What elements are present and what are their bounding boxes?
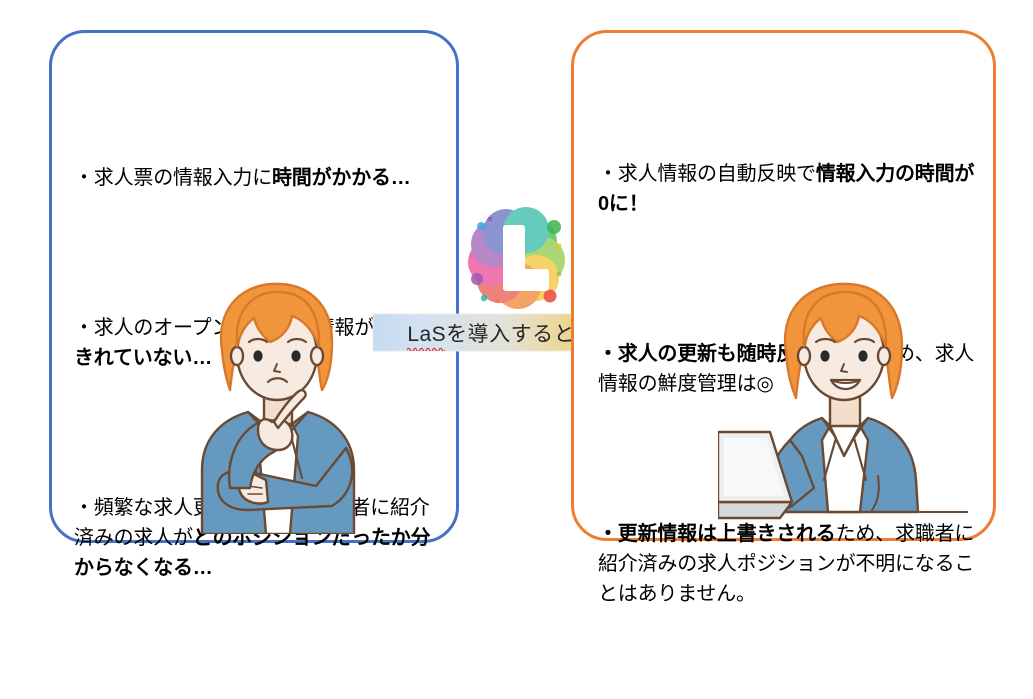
las-product-logo: [464, 206, 568, 310]
problem-2-run-normal: ・求人のオープン/クローズ情報が: [74, 317, 374, 339]
solutions-panel: ・求人情報の自動反映で情報入力の時間が0に！ ・求人の更新も随時反映されるため、…: [571, 30, 996, 541]
solution-2-run-bold: ・求人の更新も随時反映: [598, 343, 816, 365]
solution-item-2: ・求人の更新も随時反映されるため、求人情報の鮮度管理は◎: [598, 339, 983, 399]
solutions-text-block: ・求人情報の自動反映で情報入力の時間が0に！ ・求人の更新も随時反映されるため、…: [598, 69, 983, 699]
problem-1-run-normal: ・求人票の情報入力に: [74, 167, 272, 189]
problems-text-block: ・求人票の情報入力に時間がかかる… ・求人のオープン/クローズ情報が管理しきれて…: [74, 73, 444, 673]
arrow-label-text: LaSを導入すると…: [407, 323, 596, 346]
solution-item-3: ・更新情報は上書きされるため、求職者に紹介済みの求人ポジションが不明になることは…: [598, 519, 983, 609]
solution-3-run-bold: ・更新情報は上書きされる: [598, 523, 836, 545]
problem-item-1: ・求人票の情報入力に時間がかかる…: [74, 163, 444, 193]
solution-1-run-normal: ・求人情報の自動反映で: [598, 163, 816, 185]
problem-1-run-bold: 時間がかかる…: [272, 167, 411, 189]
problems-panel: ・求人票の情報入力に時間がかかる… ・求人のオープン/クローズ情報が管理しきれて…: [49, 30, 459, 543]
slide-canvas: ・求人票の情報入力に時間がかかる… ・求人のオープン/クローズ情報が管理しきれて…: [0, 0, 1033, 561]
solution-item-1: ・求人情報の自動反映で情報入力の時間が0に！: [598, 159, 983, 219]
spellcheck-squiggle-icon: [407, 346, 445, 351]
problem-item-3: ・頻繁な求人更新依頼で、求職者に紹介済みの求人がどのポジションだったか分からなく…: [74, 493, 444, 583]
